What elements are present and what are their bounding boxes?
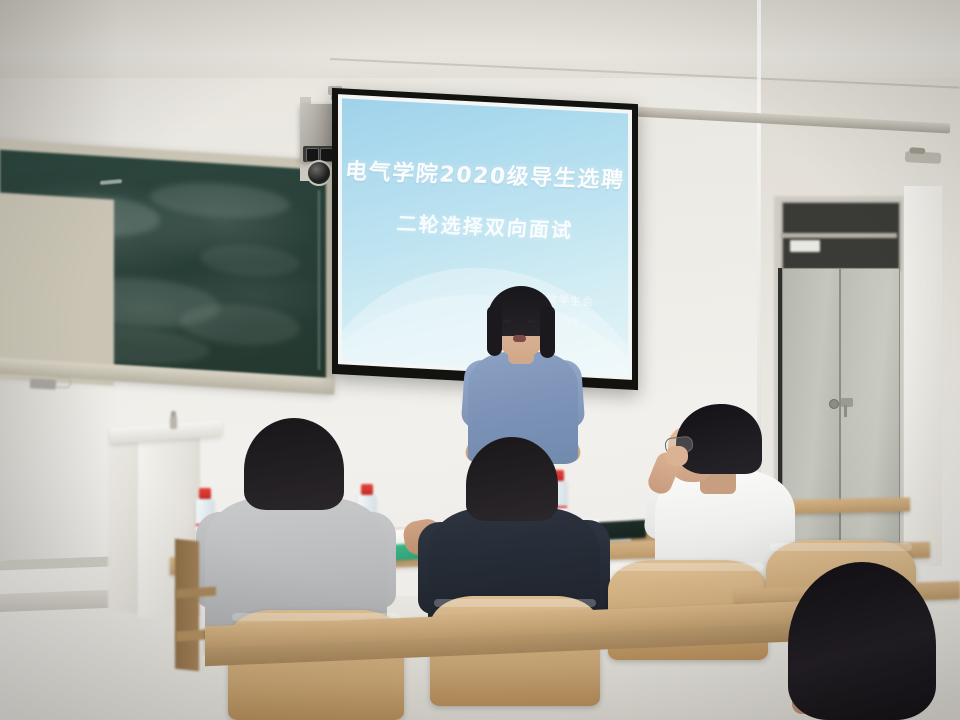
projected-slide: 电气学院2020级导生选聘 二轮选择双向面试 学院学生会 2020.09 [342, 98, 628, 375]
transom-mullion [781, 233, 897, 238]
screen-bracket-right [905, 151, 942, 164]
bottle-cap-icon [199, 488, 211, 499]
microphone-icon [170, 416, 177, 429]
attendee-white-hand [666, 446, 688, 466]
presenter-mouth [513, 335, 526, 342]
blackboard-lower-frame [0, 192, 114, 386]
door-knob[interactable] [829, 399, 839, 409]
presenter-hair-right [540, 306, 555, 358]
chair-highlight [612, 563, 764, 571]
bottle-cap-icon [361, 484, 373, 495]
presenter-eye-right [527, 320, 535, 323]
door-lock-handle[interactable] [841, 398, 853, 407]
bench-end-panel [175, 539, 199, 672]
chair-highlight [770, 543, 912, 551]
projector-screen: 电气学院2020级导生选聘 二轮选择双向面试 学院学生会 2020.09 [332, 88, 638, 390]
transom-pane-highlight [790, 240, 820, 252]
wall-bracket [30, 378, 56, 389]
screen-border: 电气学院2020级导生选聘 二轮选择双向面试 学院学生会 2020.09 [338, 94, 632, 380]
slide-title-line2: 二轮选择双向面试 [342, 205, 628, 246]
chair-highlight [434, 599, 596, 607]
blackboard-divider-line [318, 190, 320, 370]
presenter-hair-left [487, 306, 502, 356]
camera-dome-icon [306, 160, 332, 186]
slide-title-line1: 电气学院2020级导生选聘 [342, 153, 628, 194]
attendee-foreground-head [788, 562, 936, 720]
presenter-eye-left [503, 320, 511, 323]
classroom-photo: 电气学院2020级导生选聘 二轮选择双向面试 学院学生会 2020.09 [0, 0, 960, 720]
door-right-leaf[interactable] [840, 268, 900, 556]
